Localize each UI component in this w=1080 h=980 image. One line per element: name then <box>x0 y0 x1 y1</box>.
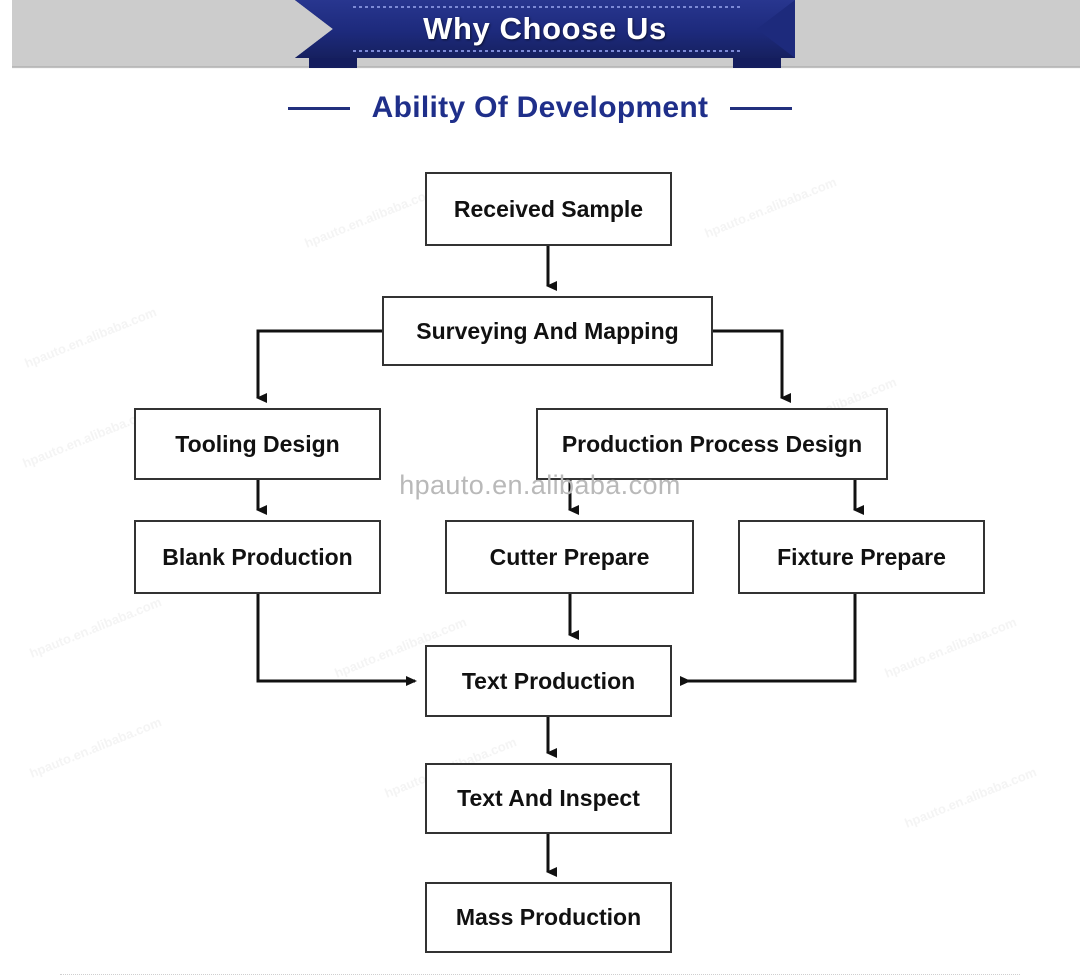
page-root: hpauto.en.alibaba.com hpauto.en.alibaba.… <box>0 0 1080 980</box>
edge-fixture-to-textproduction <box>682 594 855 681</box>
node-received-sample[interactable]: Received Sample <box>425 172 672 246</box>
node-text-production[interactable]: Text Production <box>425 645 672 717</box>
node-production-process-design[interactable]: Production Process Design <box>536 408 888 480</box>
node-text-and-inspect[interactable]: Text And Inspect <box>425 763 672 834</box>
node-blank-production[interactable]: Blank Production <box>134 520 381 594</box>
node-mass-production[interactable]: Mass Production <box>425 882 672 953</box>
footer-divider <box>60 974 1020 976</box>
edge-surveying-to-production <box>713 331 782 398</box>
edge-blank-to-textproduction <box>258 594 415 681</box>
node-surveying-and-mapping[interactable]: Surveying And Mapping <box>382 296 713 366</box>
node-tooling-design[interactable]: Tooling Design <box>134 408 381 480</box>
node-cutter-prepare[interactable]: Cutter Prepare <box>445 520 694 594</box>
node-fixture-prepare[interactable]: Fixture Prepare <box>738 520 985 594</box>
edge-surveying-to-tooling <box>258 331 382 398</box>
